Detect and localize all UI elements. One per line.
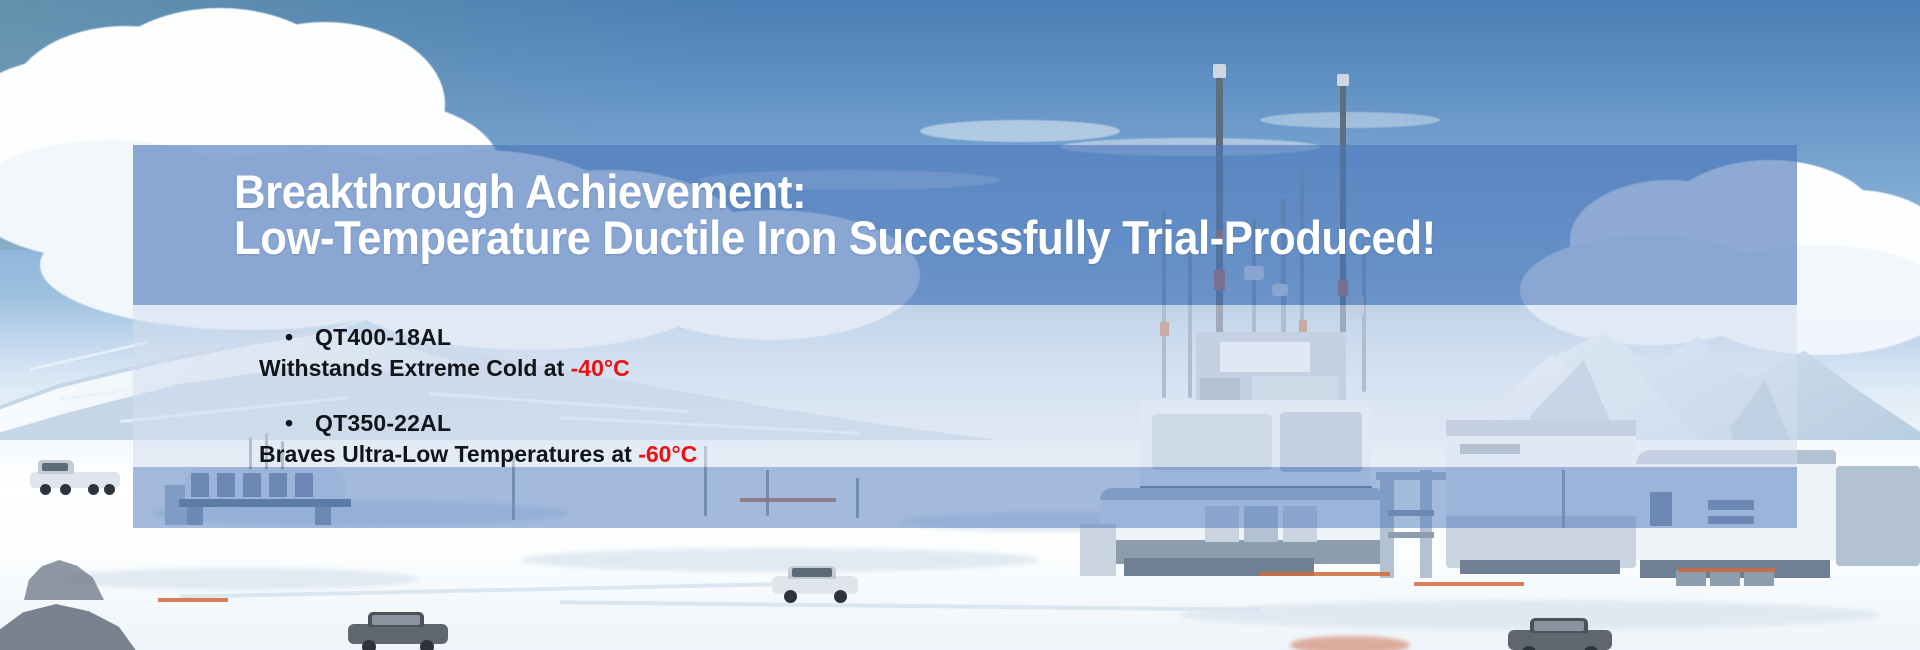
text-overlay-panel: Breakthrough Achievement: Low-Temperatur…	[133, 145, 1797, 528]
feature-list: • QT400-18AL Withstands Extreme Cold at …	[285, 323, 1685, 495]
headline: Breakthrough Achievement: Low-Temperatur…	[234, 169, 1794, 261]
suv-center	[772, 566, 858, 600]
promo-banner: Breakthrough Achievement: Low-Temperatur…	[0, 0, 1920, 650]
snow-tractor-left	[30, 460, 120, 494]
material-grade-2: QT350-22AL	[315, 409, 451, 437]
suv-bottom-right	[1508, 618, 1612, 650]
material-description-2: Braves Ultra-Low Temperatures at -60°C	[259, 439, 1685, 469]
list-item: • QT350-22AL Braves Ultra-Low Temperatur…	[285, 409, 1685, 469]
temperature-value-2: -60°C	[638, 441, 697, 467]
bullet-dot-icon: •	[285, 409, 315, 437]
material-description-1: Withstands Extreme Cold at -40°C	[259, 353, 1685, 383]
material-grade-1: QT400-18AL	[315, 323, 451, 351]
description-text-2: Braves Ultra-Low Temperatures at	[259, 441, 638, 467]
description-text-1: Withstands Extreme Cold at	[259, 355, 571, 381]
list-item: • QT400-18AL Withstands Extreme Cold at …	[285, 323, 1685, 383]
temperature-value-1: -40°C	[571, 355, 630, 381]
headline-line-2: Low-Temperature Ductile Iron Successfull…	[234, 215, 1685, 261]
headline-line-1: Breakthrough Achievement:	[234, 169, 1685, 215]
bullet-dot-icon: •	[285, 323, 315, 351]
suv-bottom-left	[348, 612, 448, 650]
